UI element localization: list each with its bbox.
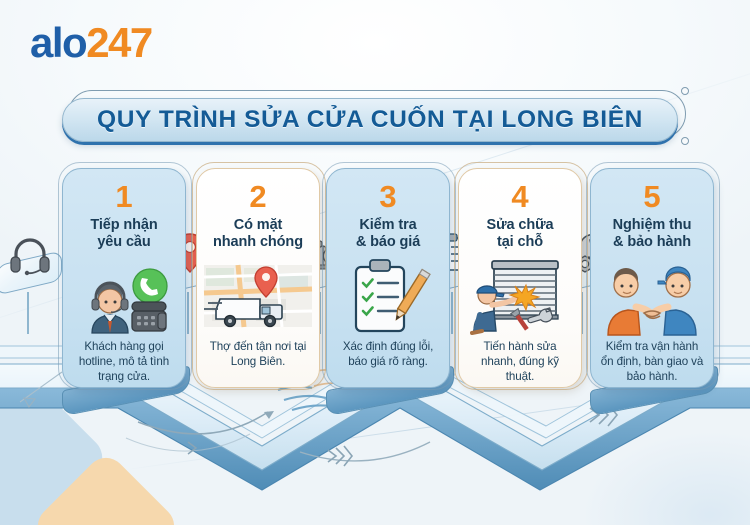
step-title-line-1: Kiểm tra [356,217,420,234]
page-title-bar: QUY TRÌNH SỬA CỬA CUỐN TẠI LONG BIÊN [62,98,678,142]
step-number: 4 [511,181,528,212]
step-number: 3 [379,181,396,212]
step-card-2[interactable]: 2 Có mặt nhanh chóng [196,168,320,388]
step-title-line-1: Có mặt [213,217,303,234]
customer-icon [608,268,652,335]
step-title: Tiếp nhận yêu cầu [90,217,157,251]
step-title-line-2: & bảo hành [613,234,692,251]
step-number: 1 [115,181,132,212]
step-description: Tiến hành sửa nhanh, đúng kỹ thuật. [467,340,573,384]
pedestal-stem [451,292,453,334]
pedestal-headset [0,258,62,298]
step-title: Sửa chữa tại chỗ [487,217,554,251]
logo-text-secondary: 247 [86,19,152,66]
step-illustration-4 [466,255,574,337]
infographic-canvas: alo247 QUY TRÌNH SỬA CỬA CUỐN TẠI LONG B… [0,0,750,525]
whatsapp-icon [133,269,167,303]
step-card-4[interactable]: 4 Sửa chữa tại chỗ [458,168,582,388]
handshake-icon [644,311,660,318]
step-title-line-1: Nghiệm thu [613,217,692,234]
step-title: Kiểm tra & báo giá [356,217,420,251]
telephone-icon [132,302,166,331]
title-outline-dot-bottom [681,137,689,145]
clipboard-checklist-icon [356,260,404,331]
step-illustration-2 [204,255,312,337]
step-card-5[interactable]: 5 Nghiệm thu & bảo hành [590,168,714,388]
page-title: QUY TRÌNH SỬA CỬA CUỐN TẠI LONG BIÊN [97,106,643,134]
step-title-line-2: yêu cầu [90,234,157,251]
step-card-1[interactable]: 1 Tiếp nhận yêu cầu [62,168,186,388]
step-title-line-1: Tiếp nhận [90,217,157,234]
step-title-line-2: tại chỗ [487,234,554,251]
brand-logo: alo247 [30,22,152,64]
step-card-3[interactable]: 3 Kiểm tra & báo giá [326,168,450,388]
step-title-line-1: Sửa chữa [487,217,554,234]
step-description: Kiểm tra vận hành ổn định, bàn giao và b… [599,340,705,384]
step-illustration-3 [334,255,442,337]
step-title-line-2: nhanh chóng [213,234,303,251]
step-title-line-2: & báo giá [356,234,420,251]
pedestal-stem [187,292,189,334]
step-title: Có mặt nhanh chóng [213,217,303,251]
step-number: 2 [249,181,266,212]
step-description: Xác định đúng lỗi, báo giá rõ ràng. [335,340,441,370]
support-agent-icon [92,282,128,333]
technician-icon [652,267,696,335]
step-number: 5 [643,181,660,212]
title-outline-dot-top [681,87,689,95]
title-banner: QUY TRÌNH SỬA CỬA CUỐN TẠI LONG BIÊN [62,94,690,142]
headset-icon [4,234,56,274]
step-illustration-5 [598,255,706,337]
step-title: Nghiệm thu & bảo hành [613,217,692,251]
step-illustration-1 [70,255,178,337]
step-description: Khách hàng gọi hotline, mô tả tình trạng… [71,340,177,384]
step-description: Thợ đến tận nơi tại Long Biên. [205,340,311,370]
pedestal-stem [27,292,29,334]
logo-text-primary: alo [30,19,86,66]
